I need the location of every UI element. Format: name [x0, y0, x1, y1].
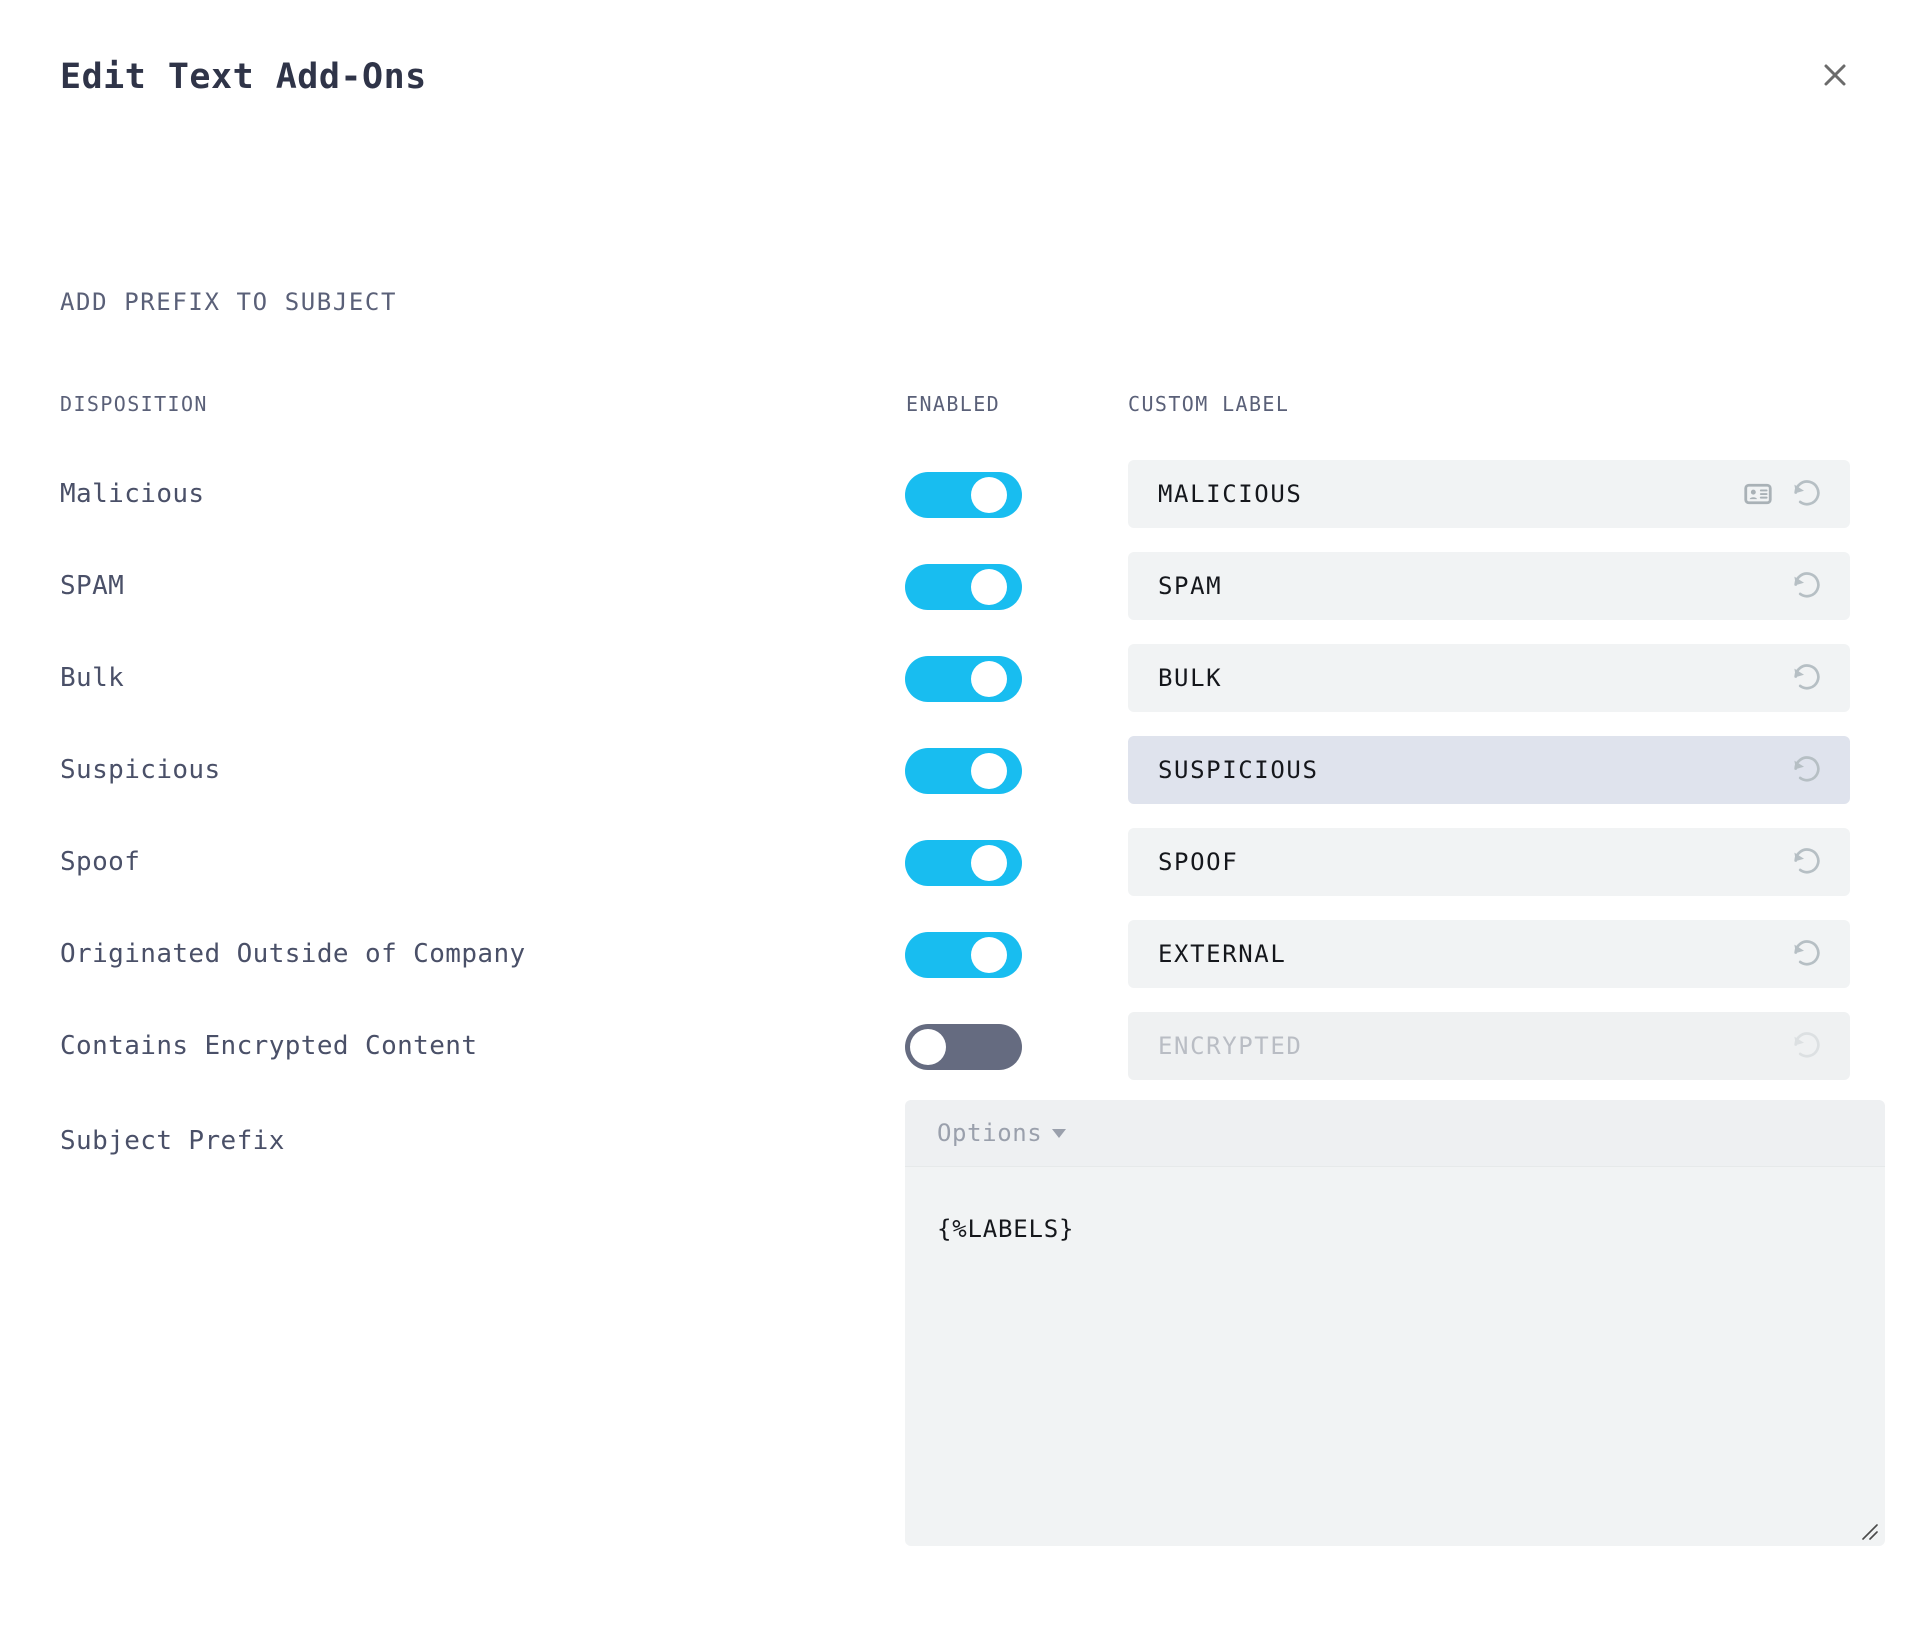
table-row: SPAMSPAM: [0, 552, 1908, 644]
table-row: Contains Encrypted ContentENCRYPTED: [0, 1012, 1908, 1104]
table-row: SpoofSPOOF: [0, 828, 1908, 920]
custom-label-input-malicious[interactable]: MALICIOUS: [1128, 460, 1850, 528]
subject-prefix-value: {%LABELS}: [937, 1215, 1074, 1243]
disposition-label-spam: SPAM: [60, 552, 124, 620]
custom-label-input-spoof[interactable]: SPOOF: [1128, 828, 1850, 896]
disposition-label-originated-outside-of-company: Originated Outside of Company: [60, 920, 526, 988]
custom-label-value: EXTERNAL: [1158, 940, 1790, 968]
custom-label-input-suspicious[interactable]: SUSPICIOUS: [1128, 736, 1850, 804]
close-button[interactable]: [1808, 48, 1862, 102]
custom-label-input-contains-encrypted-content: ENCRYPTED: [1128, 1012, 1850, 1080]
disposition-label-suspicious: Suspicious: [60, 736, 221, 804]
reset-icon[interactable]: [1790, 845, 1824, 879]
custom-label-actions: [1744, 477, 1824, 511]
id-card-icon[interactable]: [1744, 480, 1772, 508]
enabled-toggle-suspicious[interactable]: [905, 748, 1022, 794]
enabled-toggle-spam[interactable]: [905, 564, 1022, 610]
custom-label-input-originated-outside-of-company[interactable]: EXTERNAL: [1128, 920, 1850, 988]
reset-icon[interactable]: [1790, 753, 1824, 787]
reset-icon[interactable]: [1790, 937, 1824, 971]
custom-label-value: ENCRYPTED: [1158, 1032, 1790, 1060]
edit-text-addons-dialog: Edit Text Add-Ons ADD PREFIX TO SUBJECT …: [0, 0, 1908, 1650]
enabled-toggle-originated-outside-of-company[interactable]: [905, 932, 1022, 978]
disposition-label-bulk: Bulk: [60, 644, 124, 712]
options-dropdown-label: Options: [937, 1119, 1042, 1147]
disposition-label-contains-encrypted-content: Contains Encrypted Content: [60, 1012, 477, 1080]
table-row: MaliciousMALICIOUS: [0, 460, 1908, 552]
table-row: Originated Outside of CompanyEXTERNAL: [0, 920, 1908, 1012]
disposition-rows: MaliciousMALICIOUSSPAMSPAMBulkBULKSuspic…: [0, 460, 1908, 1104]
toggle-knob: [971, 937, 1007, 973]
toggle-knob: [971, 569, 1007, 605]
toggle-knob: [910, 1029, 946, 1065]
toggle-knob: [971, 845, 1007, 881]
enabled-toggle-spoof[interactable]: [905, 840, 1022, 886]
custom-label-actions: [1790, 845, 1824, 879]
enabled-toggle-contains-encrypted-content[interactable]: [905, 1024, 1022, 1070]
subject-prefix-label: Subject Prefix: [60, 1126, 285, 1156]
custom-label-input-spam[interactable]: SPAM: [1128, 552, 1850, 620]
chevron-down-icon: [1052, 1129, 1066, 1138]
editor-toolbar: Options: [905, 1100, 1885, 1166]
custom-label-actions: [1790, 753, 1824, 787]
custom-label-actions: [1790, 1029, 1824, 1063]
custom-label-value: BULK: [1158, 664, 1790, 692]
column-header-enabled: ENABLED: [906, 392, 1000, 416]
resize-handle-icon[interactable]: [1857, 1519, 1879, 1541]
disposition-label-malicious: Malicious: [60, 460, 204, 528]
column-header-disposition: DISPOSITION: [60, 392, 208, 416]
dialog-header: Edit Text Add-Ons: [0, 54, 1908, 114]
toggle-knob: [971, 661, 1007, 697]
reset-icon[interactable]: [1790, 477, 1824, 511]
custom-label-value: SPOOF: [1158, 848, 1790, 876]
table-column-headers: DISPOSITION ENABLED CUSTOM LABEL: [0, 392, 1908, 420]
custom-label-value: SPAM: [1158, 572, 1790, 600]
custom-label-actions: [1790, 569, 1824, 603]
subject-prefix-textarea[interactable]: {%LABELS}: [905, 1166, 1885, 1546]
column-header-custom-label: CUSTOM LABEL: [1128, 392, 1289, 416]
reset-icon[interactable]: [1790, 661, 1824, 695]
close-icon: [1820, 60, 1850, 90]
options-dropdown-button[interactable]: Options: [937, 1119, 1066, 1147]
table-row: SuspiciousSUSPICIOUS: [0, 736, 1908, 828]
custom-label-actions: [1790, 661, 1824, 695]
reset-icon[interactable]: [1790, 569, 1824, 603]
reset-icon: [1790, 1029, 1824, 1063]
toggle-knob: [971, 753, 1007, 789]
disposition-label-spoof: Spoof: [60, 828, 140, 896]
page-title: Edit Text Add-Ons: [60, 54, 427, 100]
table-row: BulkBULK: [0, 644, 1908, 736]
enabled-toggle-bulk[interactable]: [905, 656, 1022, 702]
custom-label-actions: [1790, 937, 1824, 971]
subject-prefix-editor: Options {%LABELS}: [905, 1100, 1885, 1546]
enabled-toggle-malicious[interactable]: [905, 472, 1022, 518]
section-heading: ADD PREFIX TO SUBJECT: [60, 288, 397, 316]
custom-label-value: MALICIOUS: [1158, 480, 1744, 508]
custom-label-value: SUSPICIOUS: [1158, 756, 1790, 784]
toggle-knob: [971, 477, 1007, 513]
custom-label-input-bulk[interactable]: BULK: [1128, 644, 1850, 712]
